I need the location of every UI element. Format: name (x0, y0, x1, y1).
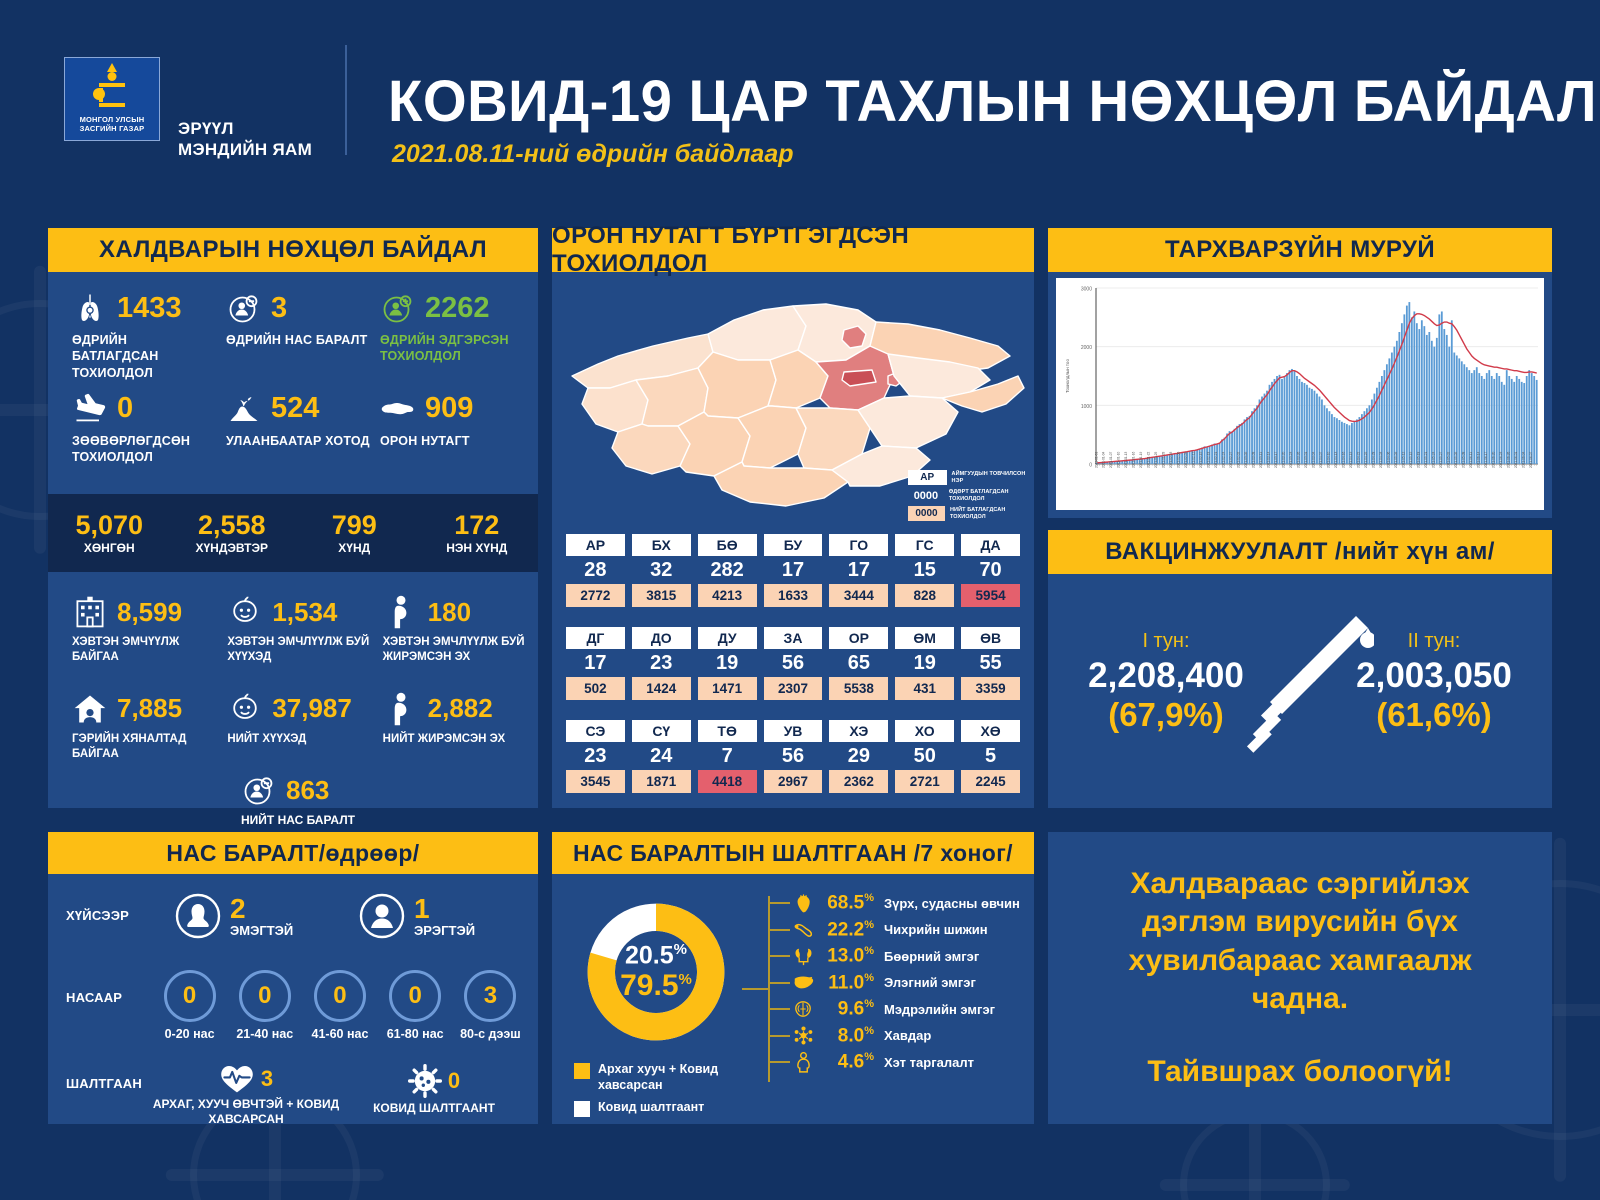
svg-text:2021-01-28: 2021-01-28 (1162, 451, 1166, 468)
svg-text:2021-06-11: 2021-06-11 (1469, 452, 1473, 468)
hosp-children: 1,534 ХЭВТЭН ЭМЧЛҮҮЛЖ БУЙ ХҮҮХЭД (215, 594, 370, 665)
province-cell: СҮ241871 (632, 720, 691, 793)
province-total: 1471 (698, 677, 757, 700)
province-cell: ОР655538 (829, 627, 888, 700)
infographic-page: МОНГОЛ УЛСЫН ЗАСГИЙН ГАЗАР ЭРҮҮЛ МЭНДИЙН… (0, 0, 1600, 1200)
province-total: 1871 (632, 770, 691, 793)
province-row-group: АР282772 БХ323815 БӨ2824213 БУ171633 ГО1… (566, 534, 1020, 607)
svg-text:Тохиолдлын тоо: Тохиолдлын тоо (1065, 359, 1070, 393)
obesity-icon (790, 1051, 816, 1073)
gender-male-value: 1 (414, 895, 430, 923)
dose-one-caption: I тун: (1066, 630, 1266, 653)
dose-two-count: 2,003,050 (1334, 657, 1534, 696)
hospitalization-grid: 8,599 ХЭВТЭН ЭМЧҮҮЛЖ БАЙГАА 1,534 (48, 572, 538, 762)
age-value: 0 (314, 970, 366, 1022)
death-causes-card: НАС БАРАЛТЫН ШАЛТГААН /7 хоног/ 20.5% 79… (552, 832, 1034, 1124)
svg-text:2021-04-13: 2021-04-13 (1334, 451, 1338, 468)
severity-label: ХҮНДЭВТЭР (171, 541, 294, 555)
svg-text:2021-03-11: 2021-03-11 (1259, 452, 1263, 468)
ulaanbaatar-monument-icon (226, 391, 262, 427)
hosp-label: ХЭВТЭН ЭМЧҮҮЛЖ БАЙГАА (72, 635, 215, 665)
ministry-name: ЭРҮҮЛ МЭНДИЙН ЯАМ (178, 118, 312, 161)
hosp-label: ГЭРИЙН ХЯНАЛТАД БАЙГАА (72, 732, 215, 762)
stat-value: 1433 (117, 294, 182, 323)
province-total: 2772 (566, 584, 625, 607)
province-total: 1424 (632, 677, 691, 700)
age-label: 21-40 нас (236, 1027, 293, 1042)
province-total: 5954 (961, 584, 1020, 607)
legend-label: Ковид шалтгаант (598, 1100, 704, 1116)
severity-breakdown: 5,070 ХӨНГӨН 2,558 ХҮНДЭВТЭР 799 ХҮНД 17… (48, 494, 538, 572)
age-group-41-60: 0 41-60 нас (302, 970, 377, 1042)
svg-text:2021-03-20: 2021-03-20 (1282, 451, 1286, 468)
province-cell: АР282772 (566, 534, 625, 607)
age-label: 80-с дээш (460, 1027, 521, 1042)
mongolia-choropleth-map: АР АЙМГУУДЫН ТОВЧИЛСОН НЭР 0000 ӨДӨРТ БА… (552, 272, 1034, 530)
stat-label: ЗӨӨВӨРЛӨГДСӨН ТОХИОЛДОЛ (72, 433, 216, 466)
stat-value: 3 (271, 294, 287, 323)
pancreas-icon (790, 919, 816, 941)
lungs-virus-icon (72, 290, 108, 326)
province-cell: СЭ233545 (566, 720, 625, 793)
province-cell: ДГ17502 (566, 627, 625, 700)
daily-deaths-heading: НАС БАРАЛТ/өдрөөр/ (48, 832, 538, 874)
province-code: АР (566, 534, 625, 556)
svg-text:2021-06-14: 2021-06-14 (1476, 451, 1480, 468)
hosp-label: ХЭВТЭН ЭМЧЛҮҮЛЖ БУЙ ХҮҮХЭД (227, 635, 370, 665)
stat-daily-deaths: 3 ӨДРИЙН НАС БАРАЛТ (216, 290, 370, 381)
tick-line (768, 1035, 790, 1037)
tick-line (768, 955, 790, 957)
condition-percent: 9.6% (816, 998, 874, 1020)
svg-text:2021-04-10: 2021-04-10 (1326, 451, 1330, 468)
province-daily: 56 (764, 653, 823, 673)
government-emblem-logo: МОНГОЛ УЛСЫН ЗАСГИЙН ГАЗАР (64, 57, 160, 141)
gender-male-label: ЭРЭГТЭЙ (414, 923, 475, 938)
legend-label: Архаг хууч + Ковид хавсарсан (598, 1062, 748, 1093)
province-code: ӨМ (895, 627, 954, 649)
page-header: МОНГОЛ УЛСЫН ЗАСГИЙН ГАЗАР ЭРҮҮЛ МЭНДИЙН… (0, 0, 1600, 205)
male-icon (358, 892, 406, 940)
liver-icon (790, 972, 816, 994)
svg-text:2021-04-03: 2021-04-03 (1379, 451, 1383, 468)
province-daily: 29 (829, 746, 888, 766)
province-row-group: ДГ17502 ДО231424 ДУ191471 ЗА562307 ОР655… (566, 627, 1020, 700)
province-total: 4213 (698, 584, 757, 607)
condition-row: 13.0% Бөөрний эмгэг (768, 943, 1026, 970)
age-value: 3 (464, 970, 516, 1022)
legend-text-code: АЙМГУУДЫН ТОВЧИЛСОН НЭР (952, 471, 1029, 485)
condition-row: 8.0% Хавдар (768, 1023, 1026, 1050)
province-code: СҮ (632, 720, 691, 742)
stat-daily-recovered: 2262 ӨДРИЙН ЭДГЭРСЭН ТОХИОЛДОЛ (370, 290, 524, 381)
condition-list: 68.5% Зүрх, судасны өвчин 22.2% Чихрийн … (768, 890, 1026, 1076)
donut-legend: Архаг хууч + Ковид хавсарсан Ковид шалтг… (574, 1062, 748, 1124)
stat-label: ӨДРИЙН ЭДГЭРСЭН ТОХИОЛДОЛ (380, 332, 524, 365)
stat-label: ӨДРИЙН НАС БАРАЛТ (226, 332, 367, 348)
svg-text:2021-05-12: 2021-05-12 (1401, 451, 1405, 468)
svg-text:2021-04-16: 2021-04-16 (1341, 451, 1345, 468)
condition-label: Мэдрэлийн эмгэг (884, 1002, 995, 1017)
province-daily: 17 (829, 560, 888, 580)
province-total: 502 (566, 677, 625, 700)
province-daily: 55 (961, 653, 1020, 673)
svg-text:2021-05-15: 2021-05-15 (1409, 451, 1413, 468)
legend-swatch-yellow (574, 1063, 590, 1079)
tick-line (768, 1061, 790, 1063)
province-code: УВ (764, 720, 823, 742)
svg-text:2021-03-14: 2021-03-14 (1267, 451, 1271, 468)
age-group-0-20: 0 0-20 нас (152, 970, 227, 1042)
total-deaths-label: НИЙТ НАС БАРАЛТ (241, 813, 355, 827)
bracket-stem (742, 988, 770, 990)
daily-deaths-card: НАС БАРАЛТ/өдрөөр/ ХҮЙСЭЭР НАСААР ШАЛТГА… (48, 832, 538, 1124)
svg-text:2021-06-17: 2021-06-17 (1484, 451, 1488, 468)
province-code: СЭ (566, 720, 625, 742)
condition-label: Элэгний эмгэг (884, 975, 976, 990)
baby-icon (227, 594, 263, 630)
tick-line (768, 929, 790, 931)
condition-row: 9.6% Мэдрэлийн эмгэг (768, 996, 1026, 1023)
province-total: 3359 (961, 677, 1020, 700)
province-cell: ХО502721 (895, 720, 954, 793)
province-cell: БХ323815 (632, 534, 691, 607)
svg-text:2021-06-01: 2021-06-01 (1514, 451, 1518, 468)
map-legend: АР АЙМГУУДЫН ТОВЧИЛСОН НЭР 0000 ӨДӨРТ БА… (908, 470, 1028, 524)
virus-gear-icon (408, 1064, 442, 1098)
public-message-card: Халдвараас сэргийлэх дэглэм вирусийн бүх… (1048, 832, 1552, 1124)
province-daily: 282 (698, 560, 757, 580)
province-daily: 50 (895, 746, 954, 766)
svg-text:2021-01-07: 2021-01-07 (1109, 451, 1113, 468)
condition-row: 22.2% Чихрийн шижин (768, 917, 1026, 944)
svg-text:2021-01-10: 2021-01-10 (1117, 451, 1121, 468)
svg-text:2021-02-24: 2021-02-24 (1222, 451, 1226, 468)
svg-text:2021-06-26: 2021-06-26 (1506, 451, 1510, 468)
svg-text:2021-02-02: 2021-02-02 (1237, 451, 1241, 468)
province-daily: 24 (632, 746, 691, 766)
province-code: ХӨ (961, 720, 1020, 742)
province-code: БУ (764, 534, 823, 556)
stat-imported: 0 ЗӨӨВӨРЛӨГДСӨН ТОХИОЛДОЛ (62, 391, 216, 466)
svg-text:2021-04-28: 2021-04-28 (1371, 451, 1375, 468)
province-cell: ХӨ52245 (961, 720, 1020, 793)
svg-text:2021-01-13: 2021-01-13 (1124, 451, 1128, 468)
epidemic-curve-card: ТАРХВАРЗҮЙН МУРУЙ 0100020003000Тохиолдлы… (1048, 228, 1552, 518)
infection-status-heading: ХАЛДВАРЫН НӨХЦӨЛ БАЙДАЛ (48, 228, 538, 272)
severity-value: 5,070 (48, 511, 171, 539)
gender-female-value: 2 (230, 895, 246, 923)
svg-text:2021-04-06: 2021-04-06 (1386, 451, 1390, 468)
province-daily: 5 (961, 746, 1020, 766)
message-line-2: Тайвшрах болоогүй! (1147, 1053, 1452, 1091)
province-cell: ӨМ19431 (895, 627, 954, 700)
stat-ulaanbaatar: 524 УЛААНБААТАР ХОТОД (216, 391, 370, 466)
condition-percent: 4.6% (816, 1051, 874, 1073)
severity-label: ХҮНД (293, 541, 416, 555)
hosp-value: 7,885 (117, 693, 182, 724)
cause-covid-only: 0 КОВИД ШАЛТГААНТ (340, 1064, 528, 1127)
province-cell: ТӨ74418 (698, 720, 757, 793)
condition-label: Хавдар (884, 1028, 931, 1043)
kidney-icon (790, 945, 816, 967)
svg-text:2021-02-06: 2021-02-06 (1177, 451, 1181, 468)
svg-text:2021-05-08: 2021-05-08 (1461, 451, 1465, 468)
svg-text:2021-05-09: 2021-05-09 (1394, 451, 1398, 468)
soyombo-icon (97, 63, 127, 111)
age-group-80-plus: 3 80-с дээш (453, 970, 528, 1042)
svg-text:2021-06-23: 2021-06-23 (1499, 451, 1503, 468)
svg-text:2021-04-07: 2021-04-07 (1319, 451, 1323, 468)
province-total: 1633 (764, 584, 823, 607)
svg-text:2021-06-04: 2021-06-04 (1521, 451, 1525, 468)
gender-female-label: ЭМЭГТЭЙ (230, 923, 293, 938)
svg-text:2021-01-04: 2021-01-04 (1102, 451, 1106, 468)
person-death-icon (226, 290, 262, 326)
province-total: 3545 (566, 770, 625, 793)
logo-caption-line1: МОНГОЛ УЛСЫН (80, 115, 145, 124)
condition-label: Бөөрний эмгэг (884, 949, 979, 964)
ministry-line-2: МЭНДИЙН ЯАМ (178, 139, 312, 160)
stat-value: 524 (271, 394, 319, 423)
province-code: ДУ (698, 627, 757, 649)
mongolia-map-icon (380, 391, 416, 427)
severity-moderate: 2,558 ХҮНДЭВТЭР (171, 511, 294, 555)
curve-svg: 0100020003000Тохиолдлын тоо2021-01-01202… (1056, 278, 1544, 510)
hosp-label: НИЙТ ХҮҮХЭД (227, 732, 370, 747)
severity-mild: 5,070 ХӨНГӨН (48, 511, 171, 555)
stat-value: 0 (117, 394, 133, 423)
person-recovered-icon (380, 290, 416, 326)
message-line-1: Халдвараас сэргийлэх дэглэм вирусийн бүх… (1082, 865, 1518, 1019)
total-deaths-value: 863 (286, 775, 329, 806)
province-code: ЗА (764, 627, 823, 649)
svg-text:2021-01-16: 2021-01-16 (1132, 451, 1136, 468)
vaccination-card: ВАКЦИНЖУУЛАЛТ /нийт хүн ам/ I тун: 2,208… (1048, 530, 1552, 808)
svg-text:2021-04-19: 2021-04-19 (1349, 451, 1353, 468)
page-subtitle: 2021.08.11-ний өдрийн байдлаар (392, 140, 794, 169)
province-daily: 17 (566, 653, 625, 673)
svg-text:2021-05-05: 2021-05-05 (1454, 451, 1458, 468)
province-total: 5538 (829, 677, 888, 700)
cause-label: АРХАГ, ХУУЧ ӨВЧТЭЙ + КОВИД ХАВСАРСАН (152, 1097, 340, 1127)
province-cell: БӨ2824213 (698, 534, 757, 607)
brain-icon (790, 998, 816, 1020)
province-daily: 7 (698, 746, 757, 766)
hosp-inpatients: 8,599 ХЭВТЭН ЭМЧҮҮЛЖ БАЙГАА (60, 594, 215, 665)
svg-text:2021-03-17: 2021-03-17 (1274, 451, 1278, 468)
stat-value: 909 (425, 394, 473, 423)
province-case-table: АР282772 БХ323815 БӨ2824213 БУ171633 ГО1… (552, 534, 1034, 813)
province-cell: ДА705954 (961, 534, 1020, 607)
hosp-value: 180 (428, 597, 471, 628)
province-cell: ХЭ292362 (829, 720, 888, 793)
tick-line (768, 982, 790, 984)
province-total: 2245 (961, 770, 1020, 793)
age-value: 0 (239, 970, 291, 1022)
province-total: 431 (895, 677, 954, 700)
svg-text:3000: 3000 (1081, 287, 1092, 293)
province-cell: ӨВ553359 (961, 627, 1020, 700)
donut-white-value: 20.5% (625, 942, 687, 968)
stat-value: 2262 (425, 294, 490, 323)
legend-chip-daily: 0000 (908, 488, 944, 503)
female-icon (174, 892, 222, 940)
condition-row: 4.6% Хэт таргалалт (768, 1049, 1026, 1076)
province-cell: ГС15828 (895, 534, 954, 607)
province-cell: УВ562967 (764, 720, 823, 793)
age-breakdown: 0 0-20 нас 0 21-40 нас 0 41-60 нас 0 61-… (152, 970, 528, 1042)
primary-stats-grid: 1433 ӨДРИЙН БАТЛАГДСАН ТОХИОЛДОЛ 3 (48, 272, 538, 473)
cause-comorbid: 3 АРХАГ, ХУУЧ ӨВЧТЭЙ + КОВИД ХАВСАРСАН (152, 1064, 340, 1127)
svg-text:2021-03-01: 2021-03-01 (1304, 451, 1308, 468)
province-cell: ЗА562307 (764, 627, 823, 700)
svg-text:2021-02-09: 2021-02-09 (1184, 451, 1188, 468)
header-divider (345, 45, 347, 155)
condition-percent: 68.5% (816, 892, 874, 914)
condition-percent: 13.0% (816, 945, 874, 967)
hospital-icon (72, 594, 108, 630)
regional-cases-heading: ОРОН НУТАГТ БҮРТГЭГДСЭН ТОХИОЛДОЛ (552, 228, 1034, 272)
province-cell: БУ171633 (764, 534, 823, 607)
severity-severe: 799 ХҮНД (293, 511, 416, 555)
condition-percent: 8.0% (816, 1025, 874, 1047)
svg-text:2021-01-25: 2021-01-25 (1154, 451, 1158, 468)
donut-legend-item: Архаг хууч + Ковид хавсарсан (574, 1062, 748, 1093)
condition-row: 68.5% Зүрх, судасны өвчин (768, 890, 1026, 917)
svg-text:2021-05-21: 2021-05-21 (1424, 451, 1428, 468)
legend-text-total: НИЙТ БАТЛАГДСАН ТОХИОЛДОЛ (950, 507, 1028, 521)
severity-value: 799 (293, 511, 416, 539)
age-value: 0 (164, 970, 216, 1022)
svg-text:2021-01-01: 2021-01-01 (1094, 451, 1098, 468)
svg-text:2021-05-24: 2021-05-24 (1431, 451, 1435, 468)
svg-text:2021-02-15: 2021-02-15 (1199, 451, 1203, 468)
svg-text:2021-02-03: 2021-02-03 (1169, 451, 1173, 468)
province-total: 3444 (829, 584, 888, 607)
province-row-group: СЭ233545 СҮ241871 ТӨ74418 УВ562967 ХЭ292… (566, 720, 1020, 793)
province-code: ХЭ (829, 720, 888, 742)
svg-text:2021-01-22: 2021-01-22 (1147, 451, 1151, 468)
donut-center-labels: 20.5% 79.5% (580, 896, 732, 1048)
svg-text:2021-04-22: 2021-04-22 (1356, 451, 1360, 468)
age-label: 0-20 нас (165, 1027, 215, 1042)
svg-text:2021-05-27: 2021-05-27 (1439, 451, 1443, 468)
province-code: ГО (829, 534, 888, 556)
stat-label: ОРОН НУТАГТ (380, 433, 470, 449)
dose-one-block: I тун: 2,208,400 (67,9%) (1066, 630, 1266, 733)
svg-text:0: 0 (1089, 463, 1092, 469)
logo-caption-line2: ЗАСГИЙН ГАЗАР (80, 124, 145, 133)
province-code: ХО (895, 720, 954, 742)
province-total: 2362 (829, 770, 888, 793)
hosp-value: 8,599 (117, 597, 182, 628)
province-daily: 23 (632, 653, 691, 673)
stat-rural: 909 ОРОН НУТАГТ (370, 391, 524, 466)
province-daily: 65 (829, 653, 888, 673)
province-code: ДА (961, 534, 1020, 556)
donut-yellow-value: 79.5% (620, 969, 692, 1002)
baby-icon (227, 691, 263, 727)
total-deaths-block: 863 НИЙТ НАС БАРАЛТ (48, 772, 538, 827)
epidemic-curve-heading: ТАРХВАРЗҮЙН МУРУЙ (1048, 228, 1552, 272)
vaccination-heading: ВАКЦИНЖУУЛАЛТ /нийт хүн ам/ (1048, 530, 1552, 574)
province-code: БӨ (698, 534, 757, 556)
province-total: 2307 (764, 677, 823, 700)
cause-label: КОВИД ШАЛТГААНТ (373, 1101, 495, 1116)
province-code: ГС (895, 534, 954, 556)
hosp-total-pregnant: 2,882 НИЙТ ЖИРЭМСЭН ЭХ (371, 691, 526, 762)
severity-label: ХӨНГӨН (48, 541, 171, 555)
row-label-cause: ШАЛТГААН (66, 1076, 142, 1091)
age-label: 61-80 нас (387, 1027, 444, 1042)
death-causes-heading: НАС БАРАЛТЫН ШАЛТГААН /7 хоног/ (552, 832, 1034, 874)
svg-text:2021-03-26: 2021-03-26 (1297, 451, 1301, 468)
svg-text:2021-03-23: 2021-03-23 (1289, 451, 1293, 468)
svg-text:2021-02-27: 2021-02-27 (1229, 451, 1233, 468)
svg-text:2021-02-21: 2021-02-21 (1214, 451, 1218, 468)
svg-text:2021-03-04: 2021-03-04 (1312, 451, 1316, 468)
home-person-icon (72, 691, 108, 727)
province-daily: 23 (566, 746, 625, 766)
person-death-icon (241, 772, 277, 808)
pregnant-icon (383, 594, 419, 630)
hosp-total-children: 37,987 НИЙТ ХҮҮХЭД (215, 691, 370, 762)
province-code: ОР (829, 627, 888, 649)
tick-line (768, 902, 790, 904)
condition-label: Чихрийн шижин (884, 922, 988, 937)
condition-label: Зүрх, судасны өвчин (884, 896, 1020, 911)
condition-row: 11.0% Элэгний эмгэг (768, 970, 1026, 997)
province-code: ТӨ (698, 720, 757, 742)
province-code: ДО (632, 627, 691, 649)
airplane-icon (72, 391, 108, 427)
age-group-61-80: 0 61-80 нас (378, 970, 453, 1042)
province-daily: 19 (895, 653, 954, 673)
legend-chip-code: АР (908, 470, 947, 485)
age-group-21-40: 0 21-40 нас (227, 970, 302, 1042)
legend-swatch-white (574, 1101, 590, 1117)
hosp-label: ХЭВТЭН ЭМЧЛҮҮЛЖ БУЙ ЖИРЭМСЭН ЭХ (383, 635, 526, 665)
province-cell: ДО231424 (632, 627, 691, 700)
heart-icon (790, 892, 816, 914)
infection-status-card: ХАЛДВАРЫН НӨХЦӨЛ БАЙДАЛ 1433 (48, 228, 538, 808)
legend-chip-total: 0000 (908, 506, 945, 521)
hosp-home-monitor: 7,885 ГЭРИЙН ХЯНАЛТАД БАЙГАА (60, 691, 215, 762)
age-label: 41-60 нас (312, 1027, 369, 1042)
age-value: 0 (389, 970, 441, 1022)
svg-text:2021-03-08: 2021-03-08 (1252, 451, 1256, 468)
row-label-age: НАСААР (66, 990, 122, 1005)
province-cell: ГО173444 (829, 534, 888, 607)
legend-row-code: АР АЙМГУУДЫН ТОВЧИЛСОН НЭР (908, 470, 1028, 485)
province-code: БХ (632, 534, 691, 556)
condition-percent: 22.2% (816, 919, 874, 941)
svg-text:2021-06-07: 2021-06-07 (1529, 451, 1533, 468)
dose-two-block: II тун: 2,003,050 (61,6%) (1334, 630, 1534, 733)
legend-text-daily: ӨДӨРТ БАТЛАГДСАН ТОХИОЛДОЛ (949, 489, 1028, 503)
svg-text:1000: 1000 (1081, 404, 1092, 410)
tick-line (768, 1008, 790, 1010)
cancer-icon (790, 1025, 816, 1047)
province-total: 4418 (698, 770, 757, 793)
dose-one-count: 2,208,400 (1066, 657, 1266, 696)
legend-row-total: 0000 НИЙТ БАТЛАГДСАН ТОХИОЛДОЛ (908, 506, 1028, 521)
condition-percent: 11.0% (816, 972, 874, 994)
gender-female-block: 2 ЭМЭГТЭЙ (174, 892, 293, 940)
stat-label: УЛААНБААТАР ХОТОД (226, 433, 370, 449)
svg-text:2021-05-02: 2021-05-02 (1446, 451, 1450, 468)
